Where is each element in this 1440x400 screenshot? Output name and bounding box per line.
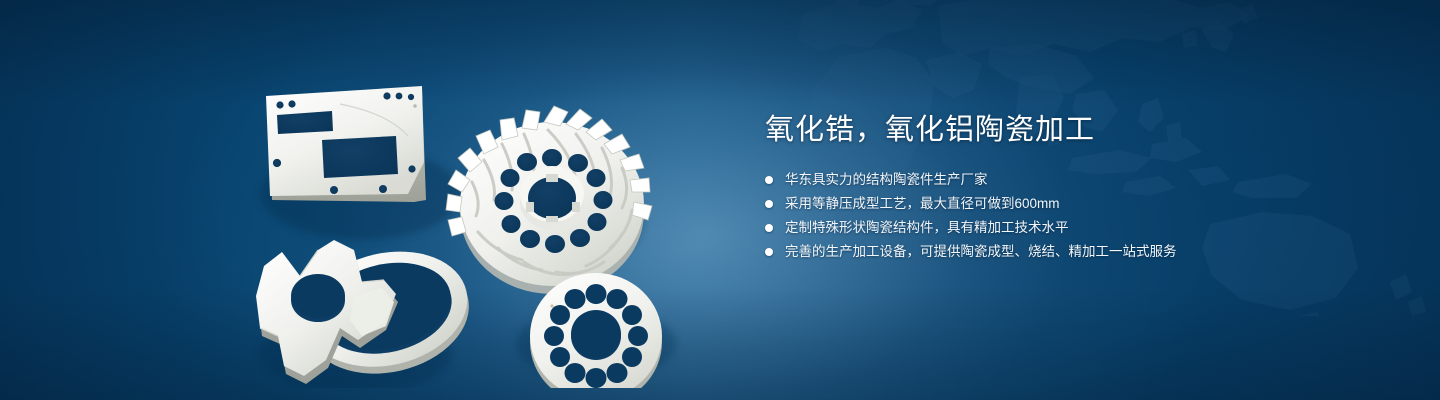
ceramic-impeller-part — [446, 106, 652, 294]
bullet-dot-icon — [765, 248, 773, 256]
list-item: 完善的生产加工设备，可提供陶瓷成型、烧结、精加工一站式服务 — [765, 240, 1405, 263]
feature-list: 华东具实力的结构陶瓷件生产厂家 采用等静压成型工艺，最大直径可做到600mm 定… — [765, 168, 1405, 263]
ceramic-parts-photo — [236, 44, 696, 388]
ceramic-plate-part — [266, 86, 426, 202]
list-item: 定制特殊形状陶瓷结构件，具有精加工技术水平 — [765, 216, 1405, 239]
bullet-dot-icon — [765, 224, 773, 232]
list-item: 华东具实力的结构陶瓷件生产厂家 — [765, 168, 1405, 191]
list-item: 采用等静压成型工艺，最大直径可做到600mm — [765, 192, 1405, 215]
list-item-label: 完善的生产加工设备，可提供陶瓷成型、烧结、精加工一站式服务 — [785, 240, 1177, 263]
bullet-dot-icon — [765, 200, 773, 208]
list-item-label: 定制特殊形状陶瓷结构件，具有精加工技术水平 — [785, 216, 1069, 239]
page-title: 氧化锆，氧化铝陶瓷加工 — [765, 110, 1405, 150]
list-item-label: 华东具实力的结构陶瓷件生产厂家 — [785, 168, 988, 191]
banner-copy: 氧化锆，氧化铝陶瓷加工 华东具实力的结构陶瓷件生产厂家 采用等静压成型工艺，最大… — [765, 110, 1405, 264]
bullet-dot-icon — [765, 176, 773, 184]
hero-banner: 氧化锆，氧化铝陶瓷加工 华东具实力的结构陶瓷件生产厂家 采用等静压成型工艺，最大… — [0, 0, 1440, 400]
list-item-label: 采用等静压成型工艺，最大直径可做到600mm — [785, 192, 1060, 215]
